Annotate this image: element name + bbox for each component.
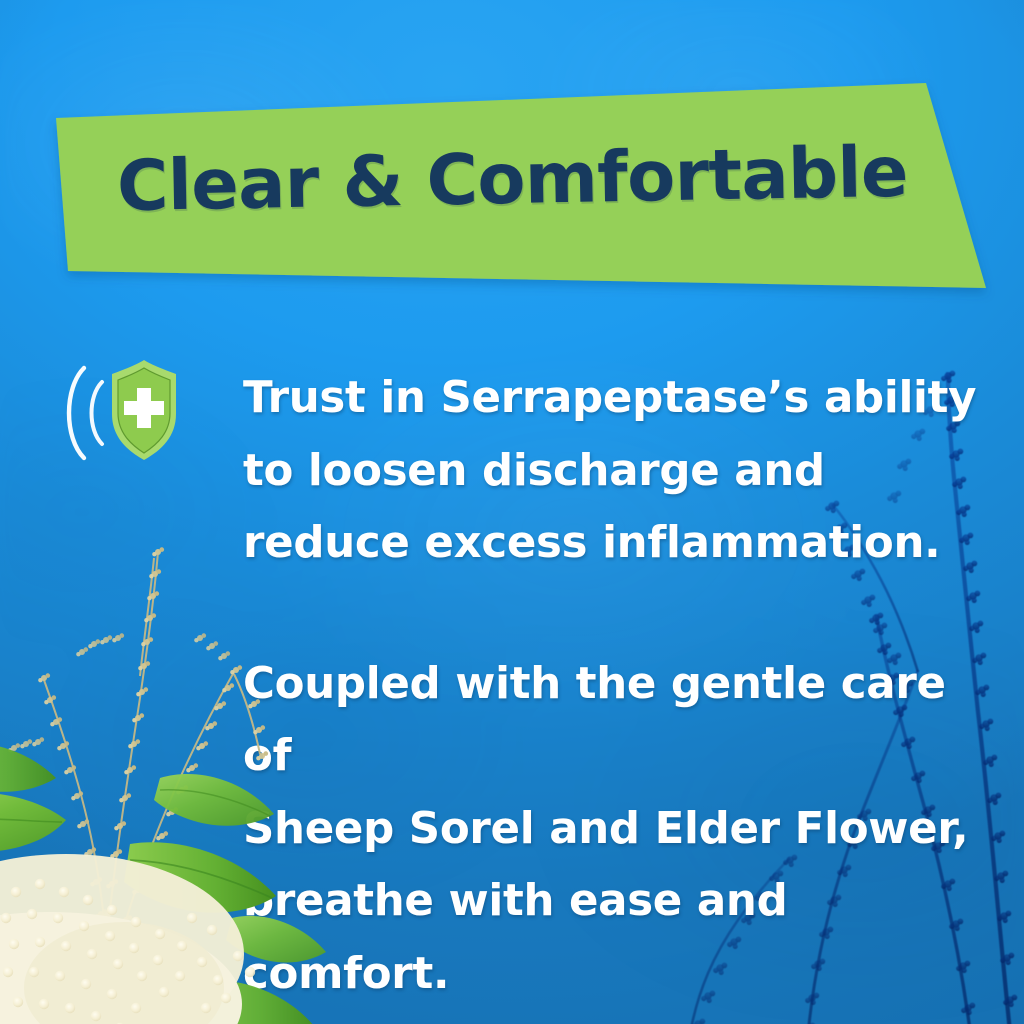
paragraph-1-line-2: to loosen discharge and <box>243 435 983 508</box>
paragraph-2-line-1: Coupled with the gentle care of <box>243 648 983 793</box>
body-copy: Trust in Serrapeptase’s ability to loose… <box>243 362 983 1010</box>
paragraph-2-line-2: Sheep Sorel and Elder Flower, <box>243 793 983 866</box>
signal-wave-icon <box>69 368 102 458</box>
paragraph-1: Trust in Serrapeptase’s ability to loose… <box>243 362 983 580</box>
shield-plus-icon <box>58 358 188 468</box>
paragraph-1-line-1: Trust in Serrapeptase’s ability <box>243 362 983 435</box>
paragraph-1-line-3: reduce excess inflammation. <box>243 507 983 580</box>
paragraph-2: Coupled with the gentle care of Sheep So… <box>243 648 983 1011</box>
page-title-wrap: Clear & Comfortable <box>0 0 1024 330</box>
paragraph-2-line-3: breathe with ease and comfort. <box>243 865 983 1010</box>
page-title: Clear & Comfortable <box>116 131 908 227</box>
poster-canvas: Clear & Comfortable Trust in Serrapeptas… <box>0 0 1024 1024</box>
